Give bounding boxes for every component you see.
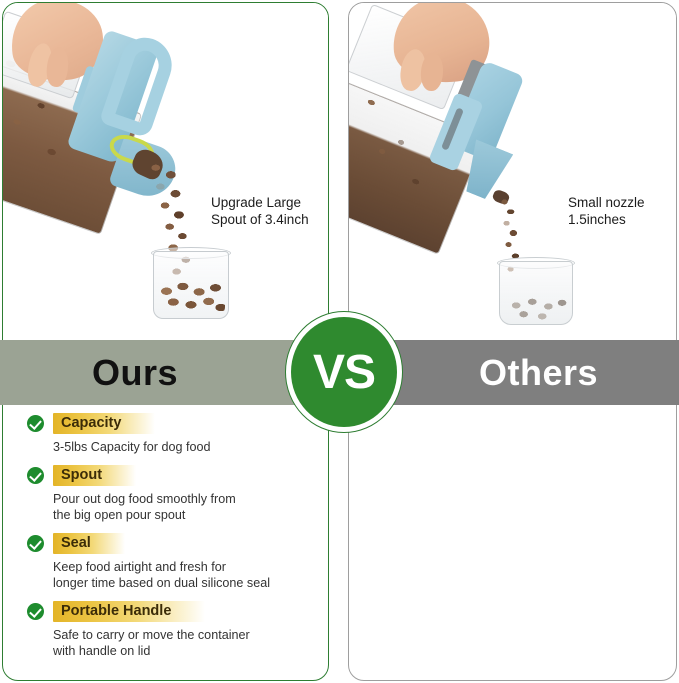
check-icon xyxy=(27,415,44,432)
others-cup-contents xyxy=(505,295,567,321)
ours-feature-heading-row: Portable Handle xyxy=(27,601,327,622)
ours-feature-heading-row: Capacity xyxy=(27,413,327,434)
ours-feature-title: Portable Handle xyxy=(53,601,205,622)
ours-feature-heading-row: Seal xyxy=(27,533,327,554)
vs-label: VS xyxy=(313,345,375,400)
list-item: Seal Keep food airtight and fresh for lo… xyxy=(27,533,327,591)
ours-feature-title: Capacity xyxy=(53,413,155,434)
ours-feature-title: Seal xyxy=(53,533,125,554)
ours-feature-desc: Safe to carry or move the container with… xyxy=(53,627,327,659)
others-photo-caption: Small nozzle 1.5inches xyxy=(568,194,645,228)
ours-feature-desc: Pour out dog food smoothly from the big … xyxy=(53,491,327,523)
check-icon xyxy=(27,467,44,484)
vs-badge-circle: VS xyxy=(291,317,397,427)
check-icon xyxy=(27,603,44,620)
ours-photo-caption: Upgrade Large Spout of 3.4inch xyxy=(211,194,309,228)
others-product-photo: Small nozzle 1.5inches xyxy=(349,3,676,336)
vs-badge: VS xyxy=(285,311,403,433)
ours-cup-contents xyxy=(157,281,225,315)
list-item: Portable Handle Safe to carry or move th… xyxy=(27,601,327,659)
ours-feature-list: Capacity 3-5lbs Capacity for dog food Sp… xyxy=(27,413,327,669)
others-banner-label: Others xyxy=(479,352,598,394)
ours-banner-label: Ours xyxy=(92,352,178,394)
list-item: Capacity 3-5lbs Capacity for dog food xyxy=(27,413,327,455)
ours-feature-desc: Keep food airtight and fresh for longer … xyxy=(53,559,327,591)
ours-feature-desc: 3-5lbs Capacity for dog food xyxy=(53,439,327,455)
list-item: Spout Pour out dog food smoothly from th… xyxy=(27,465,327,523)
comparison-infographic: Upgrade Large Spout of 3.4inch Capacity … xyxy=(0,0,679,683)
ours-feature-heading-row: Spout xyxy=(27,465,327,486)
ours-product-photo: Upgrade Large Spout of 3.4inch xyxy=(3,3,328,336)
check-icon xyxy=(27,535,44,552)
ours-feature-title: Spout xyxy=(53,465,136,486)
